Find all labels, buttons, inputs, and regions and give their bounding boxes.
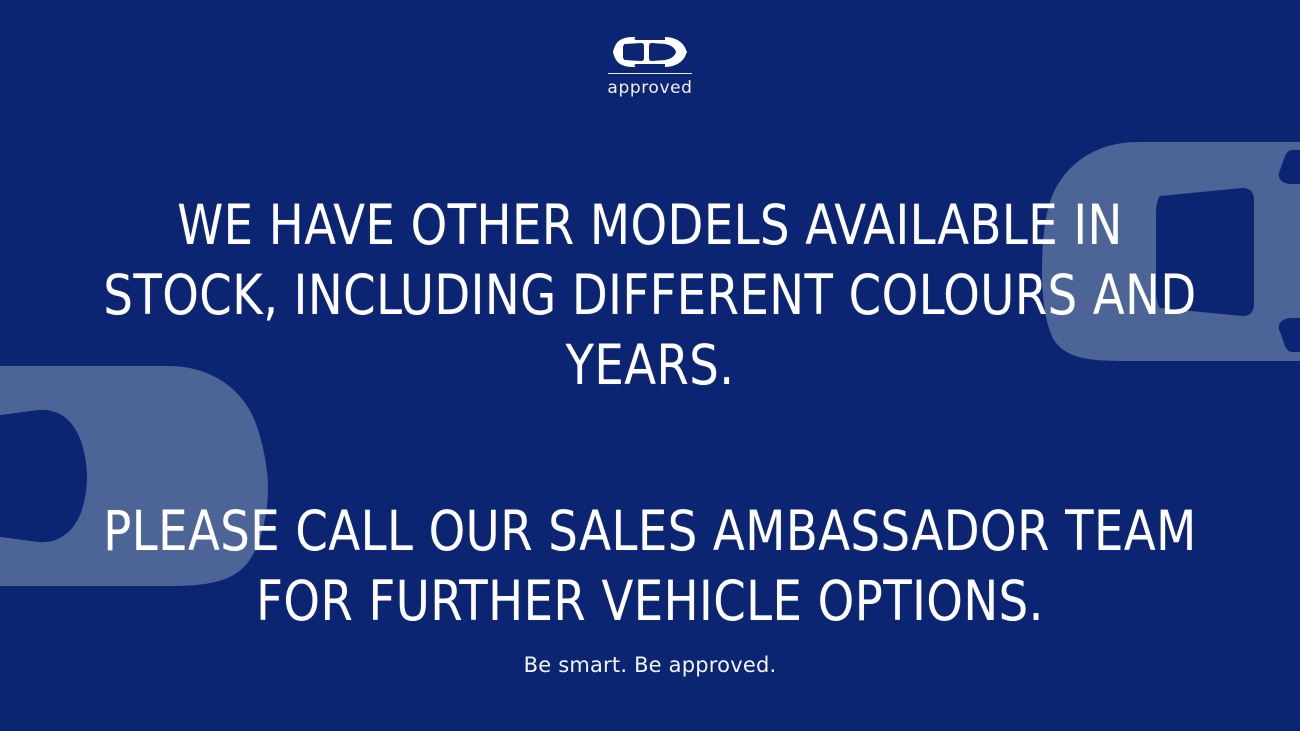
brand-tagline: Be smart. Be approved. (0, 653, 1300, 677)
headline-line: WE HAVE OTHER MODELS AVAILABLE IN (39, 190, 1261, 260)
headline-line: FOR FURTHER VEHICLE OPTIONS. (39, 566, 1261, 636)
headline-line: STOCK, INCLUDING DIFFERENT COLOURS AND (39, 260, 1261, 330)
promo-copy: WE HAVE OTHER MODELS AVAILABLE IN STOCK,… (0, 190, 1300, 636)
headline-line: PLEASE CALL OUR SALES AMBASSADOR TEAM (39, 496, 1261, 566)
approved-car-mark-icon (613, 36, 687, 68)
logo-wordmark: approved (607, 80, 692, 97)
headline-block-one: WE HAVE OTHER MODELS AVAILABLE IN STOCK,… (0, 190, 1300, 400)
brand-logo: approved (0, 36, 1300, 97)
logo-divider (608, 73, 692, 74)
approved-promo-slide: approved WE HAVE OTHER MODELS AVAILABLE … (0, 0, 1300, 731)
headline-line: YEARS. (39, 330, 1261, 400)
headline-block-two: PLEASE CALL OUR SALES AMBASSADOR TEAM FO… (0, 496, 1300, 636)
